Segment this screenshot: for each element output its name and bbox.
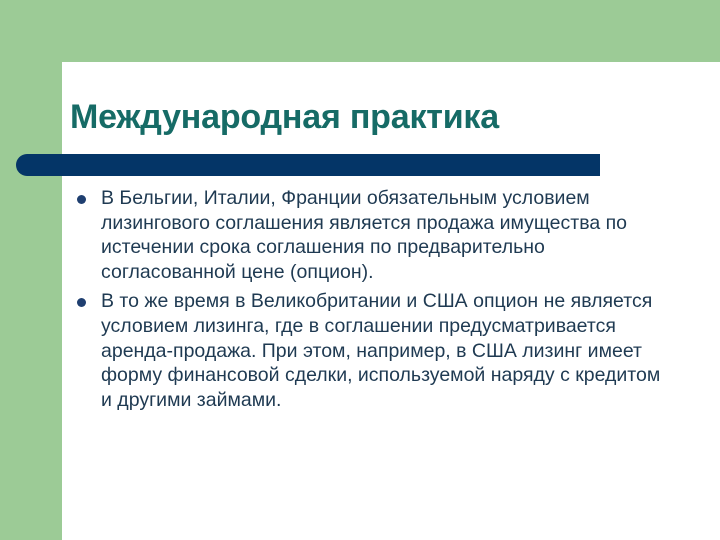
page-title: Международная практика xyxy=(70,100,690,136)
green-left-band xyxy=(0,0,62,540)
green-top-band xyxy=(0,0,720,62)
list-item-text: В то же время в Великобритании и США опц… xyxy=(101,290,660,410)
title-underline-bar xyxy=(16,154,600,176)
disc-bullet-icon xyxy=(77,298,86,307)
bullet-list: В Бельгии, Италии, Франции обязательным … xyxy=(70,186,670,417)
list-item: В то же время в Великобритании и США опц… xyxy=(70,289,670,412)
list-item: В Бельгии, Италии, Франции обязательным … xyxy=(70,186,670,284)
list-item-text: В Бельгии, Италии, Франции обязательным … xyxy=(101,187,627,283)
presentation-slide: Международная практика В Бельгии, Италии… xyxy=(0,0,720,540)
disc-bullet-icon xyxy=(77,195,86,204)
